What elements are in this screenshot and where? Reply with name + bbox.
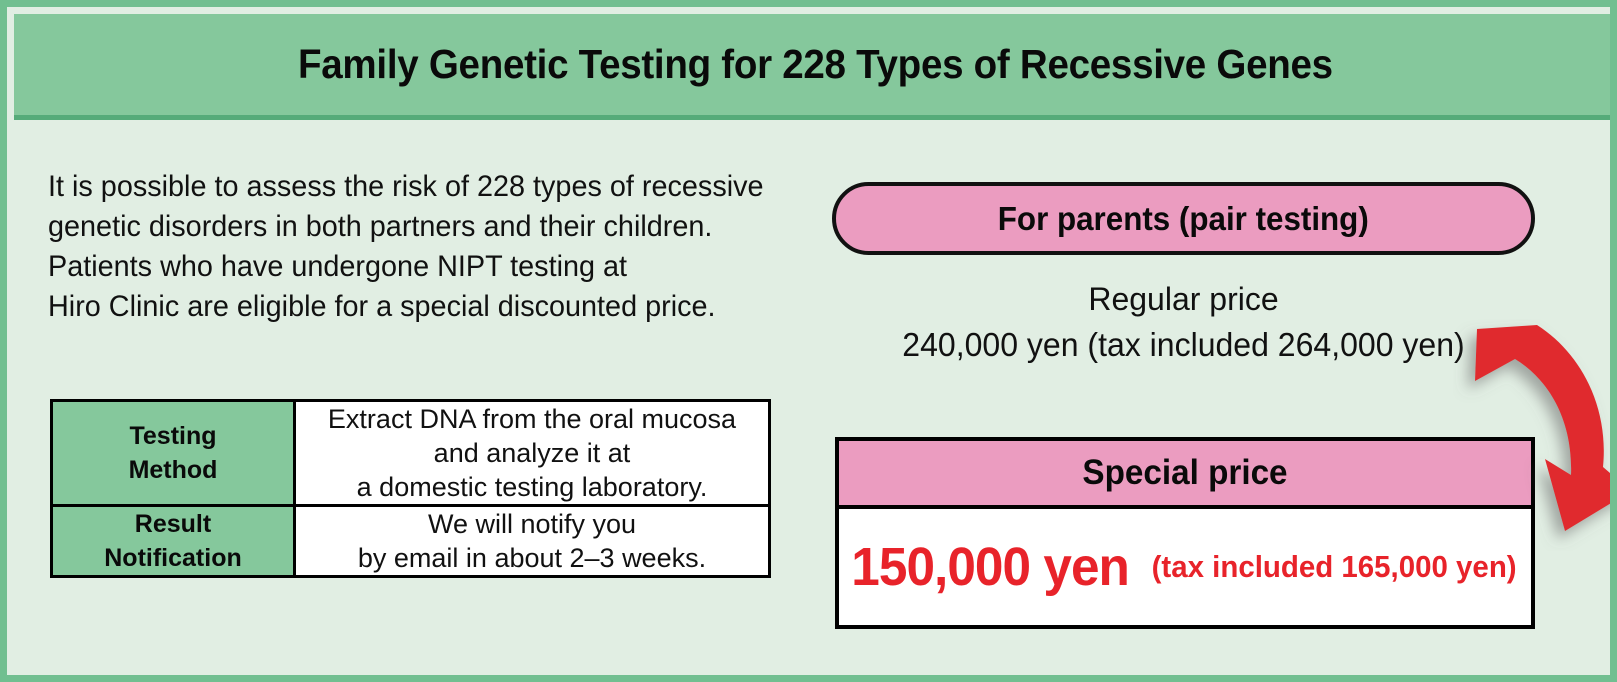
spec-value-result-notification: We will notify you by email in about 2–3…: [295, 506, 770, 577]
spec-table: Testing Method Extract DNA from the oral…: [50, 399, 771, 578]
special-price-amount: 150,000 yen: [851, 536, 1129, 598]
intro-line-4: Hiro Clinic are eligible for a special d…: [48, 287, 758, 327]
page-title: Family Genetic Testing for 228 Types of …: [298, 41, 1333, 88]
special-price-label: Special price: [1082, 453, 1287, 493]
spec-label-testing-method: Testing Method: [52, 401, 295, 506]
spec-label-line-1: Result: [135, 510, 211, 538]
special-price-tax-note: (tax included 165,000 yen): [1152, 549, 1517, 585]
spec-value-line-1: Extract DNA from the oral mucosa: [296, 402, 768, 436]
spec-value-line-1: We will notify you: [296, 507, 768, 541]
special-price-box: Special price 150,000 yen (tax included …: [835, 437, 1535, 629]
spec-label-result-notification: Result Notification: [52, 506, 295, 577]
audience-pill-label: For parents (pair testing): [998, 200, 1369, 238]
table-row: Testing Method Extract DNA from the oral…: [52, 401, 770, 506]
spec-value-line-3: a domestic testing laboratory.: [296, 470, 768, 504]
regular-price-block: Regular price 240,000 yen (tax included …: [832, 277, 1535, 369]
regular-price-label: Regular price: [832, 277, 1535, 321]
intro-line-1: It is possible to assess the risk of 228…: [48, 167, 758, 207]
spec-value-line-2: and analyze it at: [296, 436, 768, 470]
table-row: Result Notification We will notify you b…: [52, 506, 770, 577]
intro-line-3: Patients who have undergone NIPT testing…: [48, 247, 758, 287]
audience-pill: For parents (pair testing): [832, 182, 1535, 255]
regular-price-amount: 240,000 yen (tax included 264,000 yen): [843, 321, 1525, 369]
spec-label-line-2: Method: [129, 456, 218, 484]
special-price-header: Special price: [839, 441, 1531, 509]
spec-value-line-2: by email in about 2–3 weeks.: [296, 541, 768, 575]
promo-card: Family Genetic Testing for 228 Types of …: [0, 0, 1617, 682]
spec-label-line-2: Notification: [104, 544, 242, 572]
spec-label-line-1: Testing: [129, 422, 216, 450]
intro-line-2: genetic disorders in both partners and t…: [48, 207, 758, 247]
intro-paragraph: It is possible to assess the risk of 228…: [48, 167, 758, 327]
header-band: Family Genetic Testing for 228 Types of …: [14, 14, 1617, 120]
special-price-body: 150,000 yen (tax included 165,000 yen): [839, 509, 1531, 625]
spec-value-testing-method: Extract DNA from the oral mucosa and ana…: [295, 401, 770, 506]
